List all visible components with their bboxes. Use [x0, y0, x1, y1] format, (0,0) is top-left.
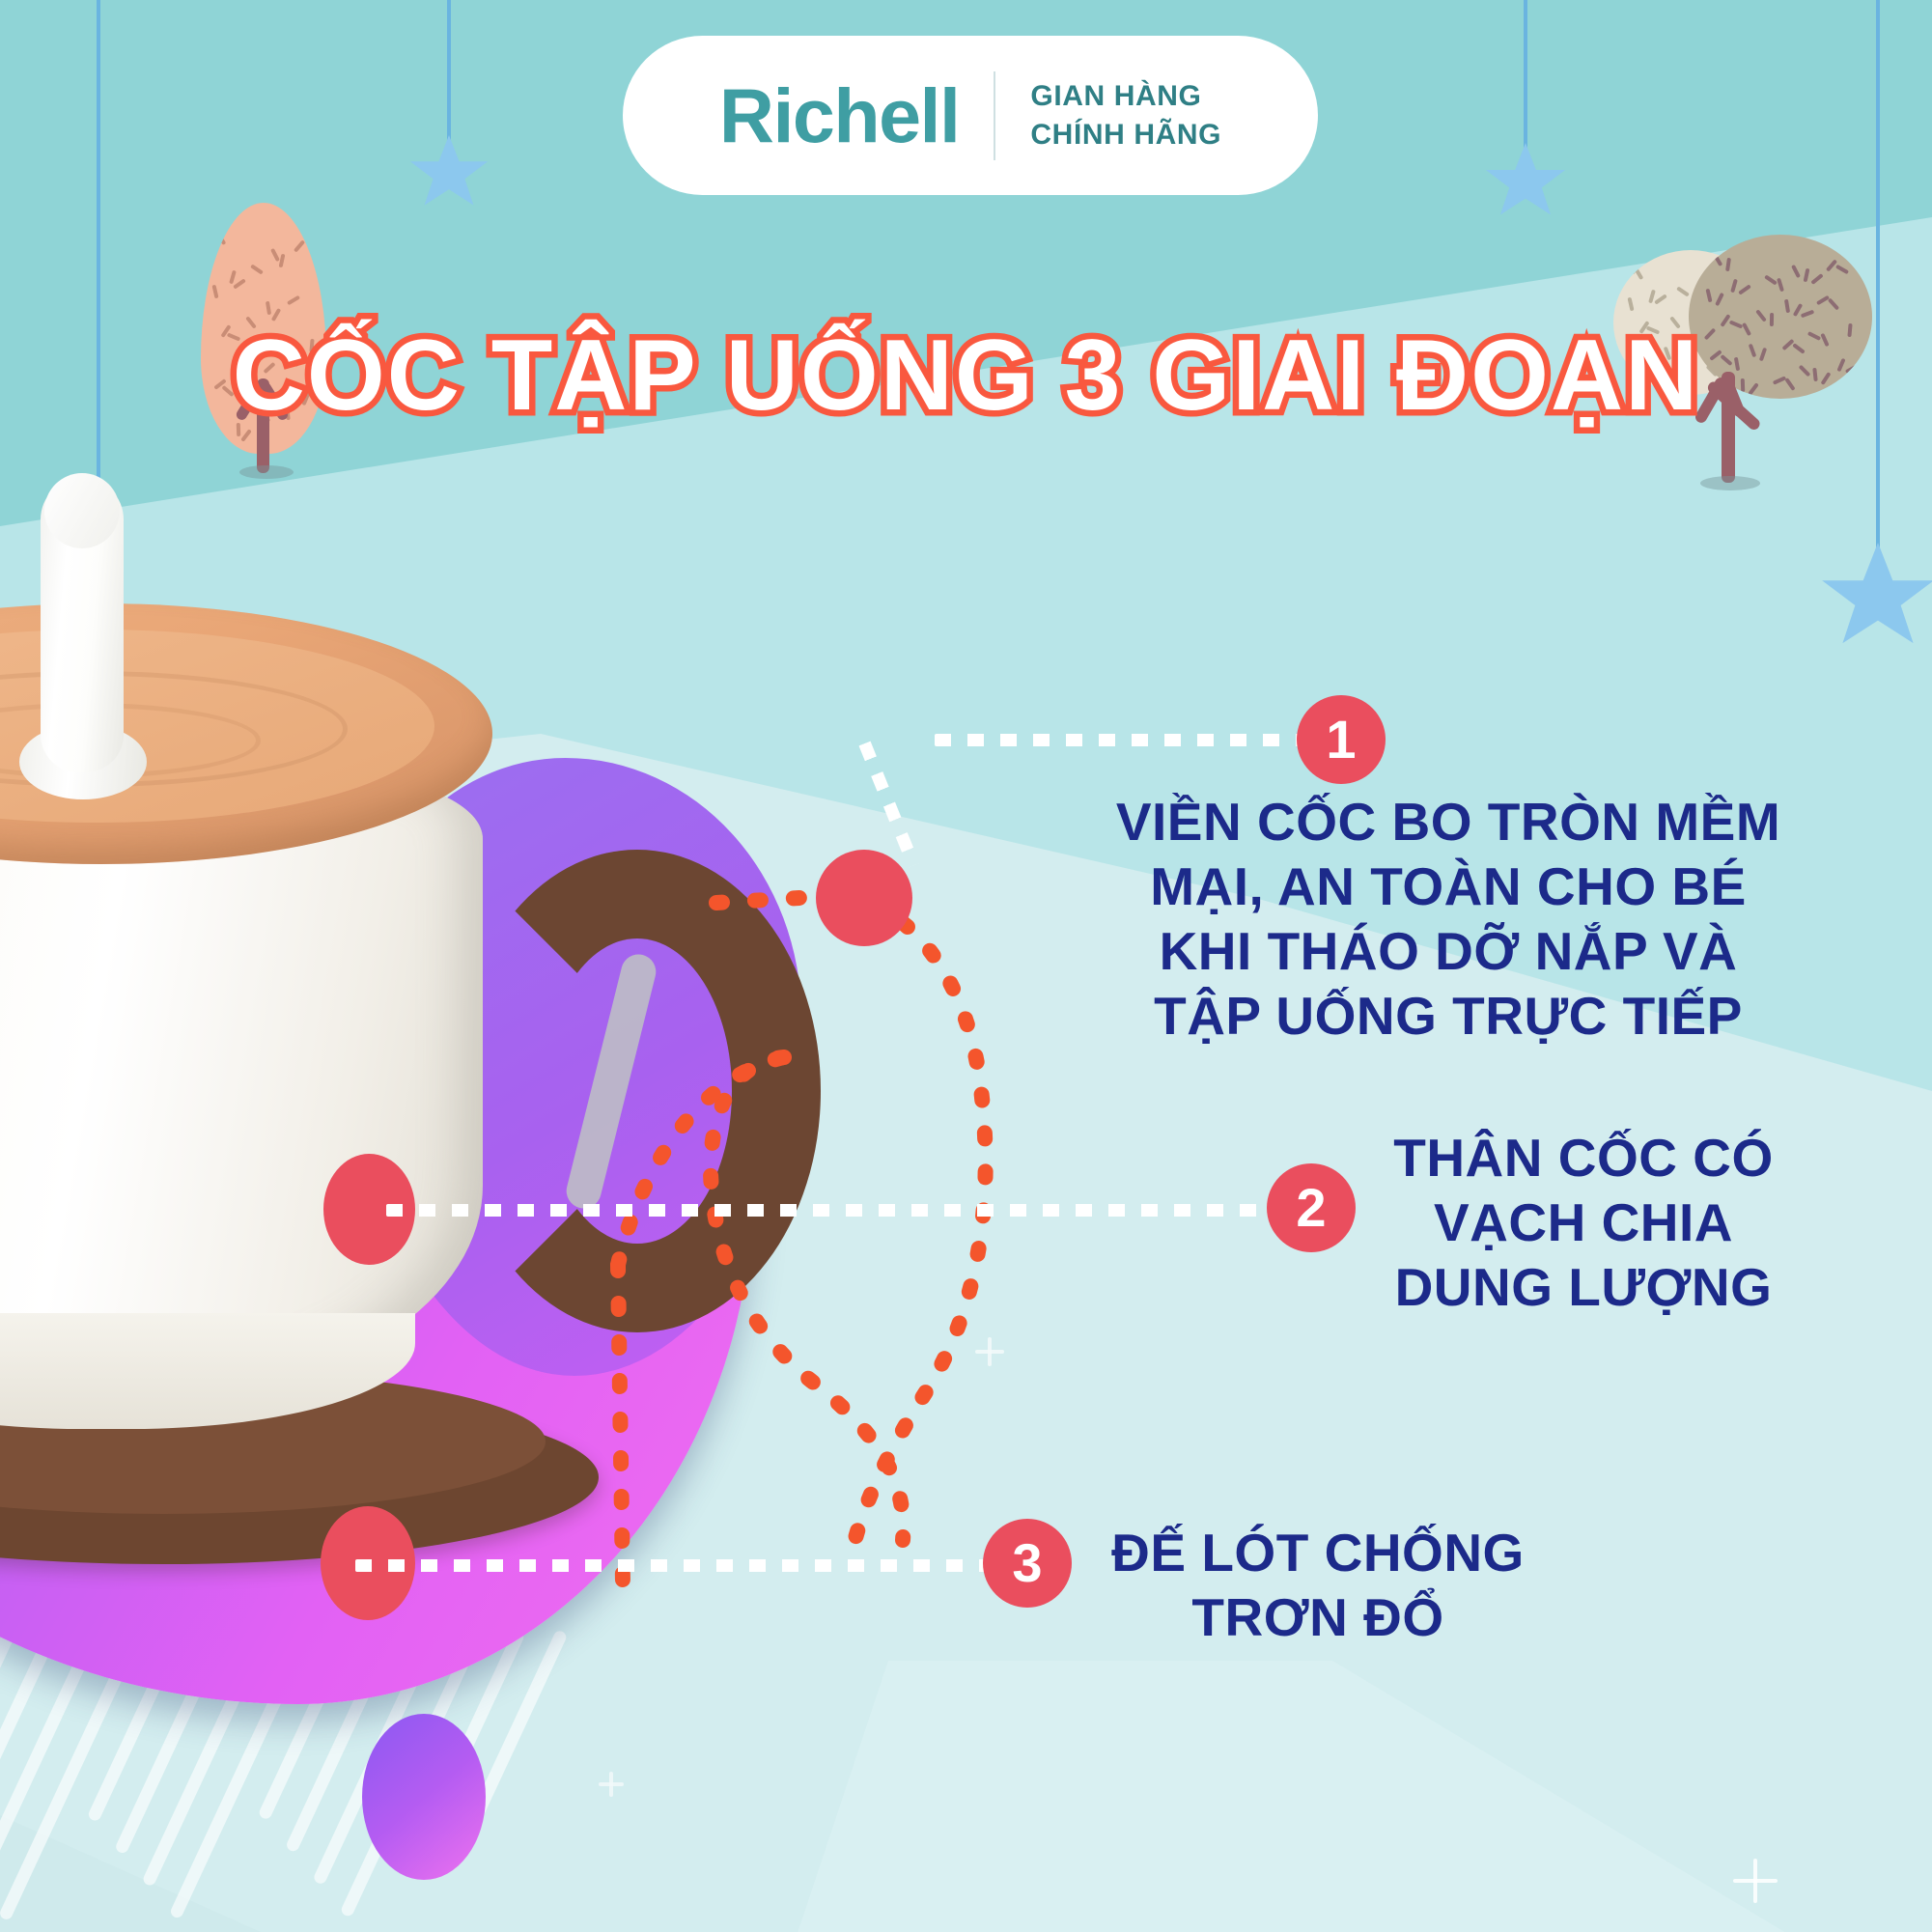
- star-icon: [409, 135, 489, 210]
- sparkle-plus-icon: [1733, 1859, 1778, 1903]
- canopy-texture-dash: [1784, 299, 1790, 313]
- feature-text-1: VIỀN CỐC BO TRÒN MỀM MẠI, AN TOÀN CHO BÉ…: [1110, 790, 1786, 1049]
- connector-line-1-horizontal: [935, 734, 1321, 746]
- feature-number-3[interactable]: 3: [983, 1519, 1072, 1608]
- badge-line-1: GIAN HÀNG: [1030, 77, 1221, 116]
- canopy-texture-dash: [251, 264, 265, 274]
- canopy-texture-dash: [270, 248, 280, 262]
- canopy-texture-dash: [1810, 273, 1823, 285]
- canopy-texture-dash: [1791, 264, 1801, 277]
- canopy-texture-dash: [1738, 284, 1751, 294]
- feature-marker-dot-1[interactable]: [816, 850, 912, 946]
- canopy-texture-dash: [1828, 298, 1839, 311]
- feature-number-1[interactable]: 1: [1297, 695, 1386, 784]
- star-icon: [1485, 143, 1566, 220]
- tree-shadow: [1700, 476, 1760, 490]
- canopy-texture-dash: [1713, 253, 1723, 266]
- sparkle-plus-icon: [975, 1337, 1004, 1366]
- cup-handle: [454, 850, 821, 1332]
- canopy-texture-dash: [229, 270, 237, 285]
- canopy-texture-dash: [211, 285, 218, 299]
- official-store-badge: GIAN HÀNG CHÍNH HÃNG: [1030, 77, 1221, 154]
- page-title: CỐC TẬP UỐNG 3 GIAI ĐOẠN: [0, 319, 1932, 434]
- brand-logo-badge[interactable]: Richell GIAN HÀNG CHÍNH HÃNG: [623, 36, 1318, 195]
- feature-text-2: THÂN CỐC CÓ VẠCH CHIA DUNG LƯỢNG: [1352, 1126, 1815, 1320]
- brand-name: Richell: [719, 77, 960, 154]
- canopy-texture-dash: [294, 240, 305, 253]
- canopy-texture-dash: [1705, 288, 1712, 302]
- straw-cap: [44, 473, 120, 548]
- badge-line-2: CHÍNH HÃNG: [1030, 116, 1221, 154]
- canopy-texture-dash: [216, 232, 227, 245]
- feature-text-3: ĐẾ LÓT CHỐNG TRƠN ĐỔ: [1091, 1521, 1545, 1650]
- canopy-texture-dash: [287, 294, 300, 305]
- canopy-texture-dash: [233, 278, 246, 289]
- connector-line-3: [355, 1559, 997, 1572]
- star-icon: [1821, 543, 1932, 651]
- canopy-texture-dash: [1725, 257, 1731, 270]
- canopy-texture-dash: [1730, 279, 1738, 294]
- canopy-texture-dash: [1804, 268, 1810, 283]
- hanging-star-top-right: [1477, 0, 1574, 241]
- tree-shadow: [239, 465, 294, 479]
- canopy-texture-dash: [1801, 310, 1815, 319]
- logo-divider: [994, 71, 995, 160]
- canopy-texture-dash: [279, 254, 286, 268]
- infographic-canvas: Richell GIAN HÀNG CHÍNH HÃNG CỐC TẬP UỐN…: [0, 0, 1932, 1932]
- cup-body: [0, 777, 483, 1395]
- connector-line-2: [386, 1204, 1282, 1217]
- canopy-texture-dash: [1715, 293, 1724, 306]
- canopy-texture-dash: [1835, 265, 1849, 274]
- sparkle-plus-icon: [599, 1772, 624, 1797]
- canopy-texture-dash: [1777, 277, 1784, 292]
- star-thread: [447, 0, 451, 147]
- canopy-texture-dash: [1764, 275, 1778, 286]
- gradient-ellipse-decor: [362, 1714, 486, 1880]
- star-thread: [1524, 0, 1527, 154]
- feature-number-2[interactable]: 2: [1267, 1163, 1356, 1252]
- canopy-texture-dash: [266, 301, 271, 315]
- hanging-star-top-left: [401, 0, 497, 222]
- canopy-texture-dash: [1700, 252, 1715, 261]
